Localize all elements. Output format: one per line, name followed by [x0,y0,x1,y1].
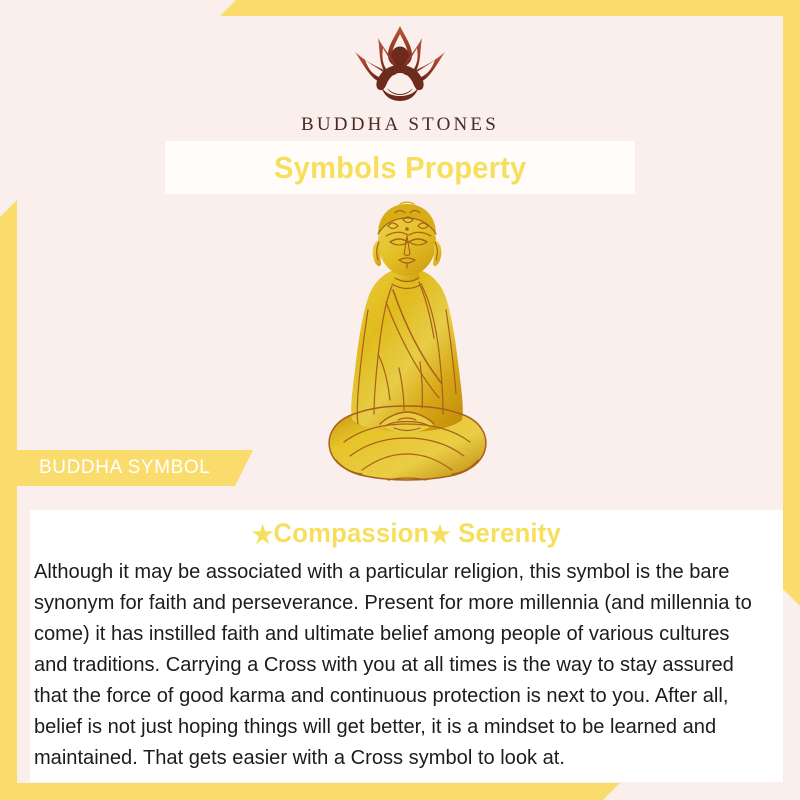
infographic-page: BUDDHA STONES Symbols Property [0,0,800,800]
page-title: Symbols Property [274,150,526,186]
decorative-band-top [220,0,800,16]
hero-image [300,198,515,498]
star-icon-two: ★ [429,521,450,549]
star-icon-one: ★ [252,521,273,549]
headline-word-one: Compassion [274,518,430,548]
decorative-band-left [0,200,17,800]
brand-wordmark: BUDDHA STONES [0,114,800,136]
symbol-tag: BUDDHA SYMBOL [17,450,253,486]
content-paragraph: Although it may be associated with a par… [30,557,772,774]
content-card: ★Compassion★ Serenity Although it may be… [30,510,783,782]
title-banner: Symbols Property [165,141,635,194]
decorative-band-bottom [0,783,620,800]
lotus-meditation-figure-icon [325,22,475,110]
brand-header: BUDDHA STONES [0,22,800,136]
headline-word-two: Serenity [451,518,561,548]
content-headline: ★Compassion★ Serenity [49,518,764,550]
golden-seated-buddha-statue [300,198,515,498]
symbol-tag-label: BUDDHA SYMBOL [17,457,210,479]
